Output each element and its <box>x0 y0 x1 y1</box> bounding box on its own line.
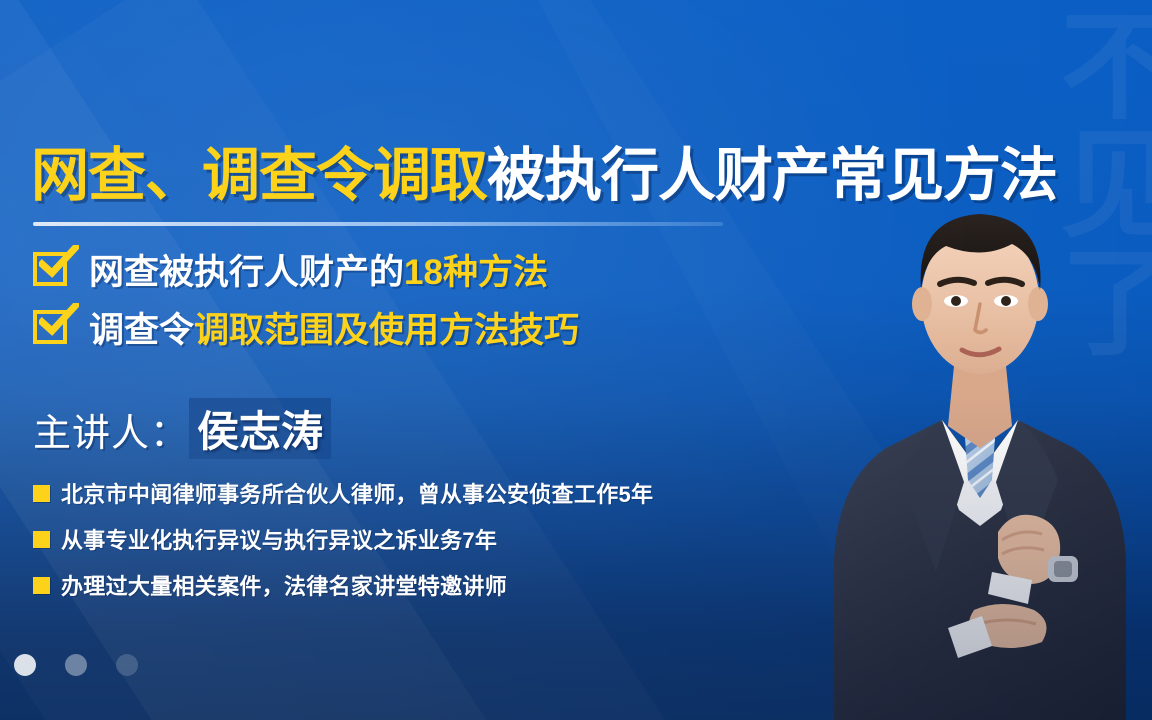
bio-list-item: 北京市中闻律师事务所合伙人律师，曾从事公安侦查工作5年 <box>33 470 653 516</box>
carousel-dot-3[interactable] <box>116 654 138 676</box>
bio-item-text: 办理过大量相关案件，法律名家讲堂特邀讲师 <box>61 569 507 601</box>
speaker-bio-list: 北京市中闻律师事务所合伙人律师，曾从事公安侦查工作5年 从事专业化执行异议与执行… <box>33 470 653 608</box>
bio-item-text: 北京市中闻律师事务所合伙人律师，曾从事公安侦查工作5年 <box>61 477 653 509</box>
feature-bullet-text: 调查令调取范围及使用方法技巧 <box>89 302 579 353</box>
feature-bullet-item: 网查被执行人财产的18种方法 <box>33 240 579 298</box>
feature-bullet-text: 网查被执行人财产的18种方法 <box>89 244 548 295</box>
feature-bullet-list: 网查被执行人财产的18种方法 调查令调取范围及使用方法技巧 <box>33 240 579 356</box>
speaker-label: 主讲人： <box>33 402 189 457</box>
checkbox-checked-icon <box>33 252 67 286</box>
feature-bullet-item: 调查令调取范围及使用方法技巧 <box>33 298 579 356</box>
feature-bullet-highlight: 18种方法 <box>404 253 548 292</box>
bio-list-item: 办理过大量相关案件，法律名家讲堂特邀讲师 <box>33 562 653 608</box>
speaker-name: 侯志涛 <box>189 398 331 459</box>
title-divider <box>33 222 723 226</box>
slide-content: 网查、调查令调取被执行人财产常见方法 网查被执行人财产的18种方法 调查令调 <box>0 0 1152 720</box>
feature-bullet-highlight: 调取范围及使用方法技巧 <box>194 311 579 350</box>
carousel-dot-2[interactable] <box>65 654 87 676</box>
square-bullet-icon <box>33 577 50 594</box>
carousel-dot-1[interactable] <box>14 654 36 676</box>
square-bullet-icon <box>33 485 50 502</box>
bio-item-text: 从事专业化执行异议与执行异议之诉业务7年 <box>61 523 497 555</box>
feature-bullet-plain: 网查被执行人财产的 <box>89 253 404 292</box>
page-title-plain: 被执行人财产常见方法 <box>487 143 1057 208</box>
speaker-line: 主讲人： 侯志涛 <box>33 398 331 459</box>
bio-list-item: 从事专业化执行异议与执行异议之诉业务7年 <box>33 516 653 562</box>
checkbox-checked-icon <box>33 310 67 344</box>
square-bullet-icon <box>33 531 50 548</box>
page-title-highlight: 网查、调查令调取 <box>31 143 487 208</box>
carousel-indicator[interactable] <box>14 654 138 676</box>
page-title: 网查、调查令调取被执行人财产常见方法 <box>31 146 1057 207</box>
slide-canvas: 不见了 <box>0 0 1152 720</box>
feature-bullet-plain: 调查令 <box>89 311 194 350</box>
